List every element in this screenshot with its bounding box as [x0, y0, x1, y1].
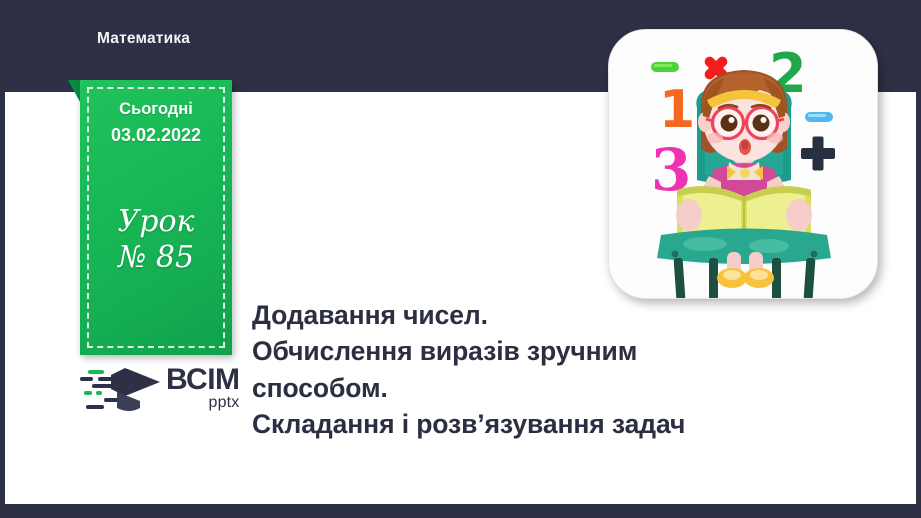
digit-one-orange: 1 — [659, 80, 695, 140]
subject-label: Математика — [97, 30, 190, 48]
lesson-date-card-body: Сьогодні 03.02.2022 Урок № 85 — [80, 80, 232, 355]
title-line-3: способом. — [252, 370, 902, 406]
card-fold-corner — [68, 80, 80, 102]
today-date: 03.02.2022 — [111, 126, 201, 145]
title-line-4: Складання і розв’язування задач — [252, 406, 902, 442]
minus-symbol-green — [651, 62, 679, 72]
lesson-date-card: Сьогодні 03.02.2022 Урок № 85 — [80, 80, 232, 355]
lesson-word: Урок — [118, 207, 195, 237]
illustration-card: 2 1 3 — [608, 29, 878, 299]
bcim-pptx-logo[interactable]: ВСІМ pptx — [78, 362, 243, 414]
title-line-2: Обчислення виразів зручним — [252, 333, 902, 369]
girl-reading-illustration: 2 1 3 — [609, 30, 878, 299]
today-label: Сьогодні — [119, 101, 193, 118]
slide-canvas: Математика Сьогодні 03.02.2022 Урок № 85 — [0, 0, 921, 518]
logo-title: ВСІМ — [166, 366, 240, 394]
lesson-number: № 85 — [118, 243, 194, 273]
minus-symbol-blue — [805, 112, 833, 122]
slide-title: Додавання чисел. Обчислення виразів зруч… — [252, 297, 902, 442]
graduation-cap-icon — [78, 362, 164, 414]
title-line-1: Додавання чисел. — [252, 297, 902, 333]
logo-subtitle: pptx — [166, 395, 240, 410]
